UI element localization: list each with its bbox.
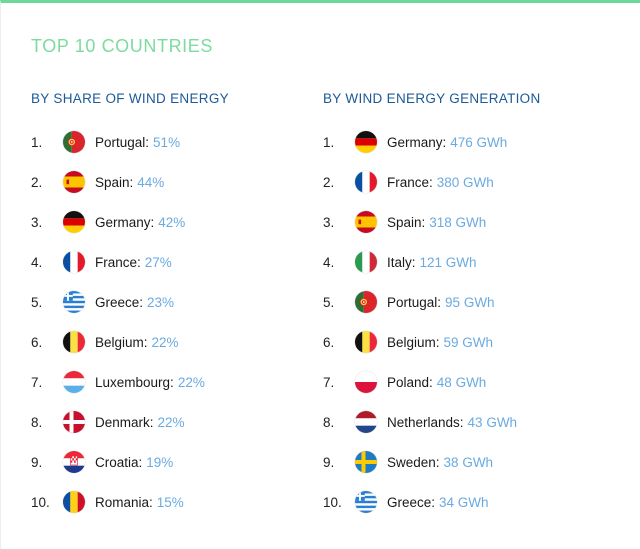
flag-romania-icon: [63, 491, 85, 513]
country-name: Italy:: [387, 255, 416, 270]
country-name: Belgium:: [95, 335, 148, 350]
country-name: Romania:: [95, 495, 153, 510]
list-item[interactable]: 6.Belgium:22%: [31, 322, 297, 362]
rank-number: 4.: [323, 255, 355, 270]
country-name: Germany:: [387, 135, 446, 150]
list-item[interactable]: 8.Netherlands:43 GWh: [323, 402, 640, 442]
rank-number: 8.: [31, 415, 63, 430]
list-item[interactable]: 4.France:27%: [31, 242, 297, 282]
country-value: 19%: [146, 455, 173, 470]
country-value: 121 GWh: [420, 255, 477, 270]
country-name: Croatia:: [95, 455, 142, 470]
column-wind-energy-generation: BY WIND ENERGY GENERATION 1.Germany:476 …: [297, 91, 640, 522]
country-name: Poland:: [387, 375, 433, 390]
list-item[interactable]: 9.Sweden:38 GWh: [323, 442, 640, 482]
top-countries-card: TOP 10 COUNTRIES BY SHARE OF WIND ENERGY…: [0, 0, 640, 549]
rank-number: 2.: [323, 175, 355, 190]
country-value: 44%: [137, 175, 164, 190]
rank-number: 5.: [31, 295, 63, 310]
column-share-of-wind-energy: BY SHARE OF WIND ENERGY 1.Portugal:51%2.…: [1, 91, 297, 522]
list-item[interactable]: 10.Greece:34 GWh: [323, 482, 640, 522]
list-item[interactable]: 5.Portugal:95 GWh: [323, 282, 640, 322]
list-item[interactable]: 2.Spain:44%: [31, 162, 297, 202]
rank-number: 8.: [323, 415, 355, 430]
flag-france-icon: [63, 251, 85, 273]
rank-number: 3.: [323, 215, 355, 230]
country-value: 22%: [158, 415, 185, 430]
flag-belgium-icon: [355, 331, 377, 353]
rank-number: 9.: [323, 455, 355, 470]
list-item[interactable]: 2.France:380 GWh: [323, 162, 640, 202]
flag-germany-icon: [63, 211, 85, 233]
country-name: France:: [95, 255, 141, 270]
country-name: Germany:: [95, 215, 154, 230]
flag-denmark-icon: [63, 411, 85, 433]
list-item[interactable]: 7.Poland:48 GWh: [323, 362, 640, 402]
rank-number: 9.: [31, 455, 63, 470]
rank-number: 3.: [31, 215, 63, 230]
list-item[interactable]: 7.Luxembourg:22%: [31, 362, 297, 402]
country-name: Greece:: [95, 295, 143, 310]
rank-list-generation: 1.Germany:476 GWh2.France:380 GWh3.Spain…: [323, 122, 640, 522]
flag-france-icon: [355, 171, 377, 193]
rank-list-share: 1.Portugal:51%2.Spain:44%3.Germany:42%4.…: [31, 122, 297, 522]
flag-luxembourg-icon: [63, 371, 85, 393]
flag-sweden-icon: [355, 451, 377, 473]
country-value: 22%: [152, 335, 179, 350]
country-name: Sweden:: [387, 455, 440, 470]
columns-container: BY SHARE OF WIND ENERGY 1.Portugal:51%2.…: [1, 91, 640, 522]
rank-number: 10.: [323, 495, 355, 510]
country-value: 15%: [157, 495, 184, 510]
flag-greece-icon: [63, 291, 85, 313]
rank-number: 7.: [323, 375, 355, 390]
column-heading-share: BY SHARE OF WIND ENERGY: [31, 91, 297, 106]
country-value: 38 GWh: [444, 455, 494, 470]
country-name: Portugal:: [95, 135, 149, 150]
country-name: Netherlands:: [387, 415, 464, 430]
column-heading-generation: BY WIND ENERGY GENERATION: [323, 91, 640, 106]
rank-number: 2.: [31, 175, 63, 190]
list-item[interactable]: 8.Denmark:22%: [31, 402, 297, 442]
country-value: 380 GWh: [437, 175, 494, 190]
country-value: 476 GWh: [450, 135, 507, 150]
country-value: 23%: [147, 295, 174, 310]
flag-greece-icon: [355, 491, 377, 513]
country-name: Greece:: [387, 495, 435, 510]
list-item[interactable]: 3.Germany:42%: [31, 202, 297, 242]
country-value: 48 GWh: [437, 375, 487, 390]
list-item[interactable]: 5.Greece:23%: [31, 282, 297, 322]
country-name: France:: [387, 175, 433, 190]
country-name: Denmark:: [95, 415, 154, 430]
list-item[interactable]: 1.Germany:476 GWh: [323, 122, 640, 162]
country-name: Spain:: [387, 215, 425, 230]
country-name: Spain:: [95, 175, 133, 190]
country-value: 43 GWh: [468, 415, 518, 430]
rank-number: 6.: [323, 335, 355, 350]
flag-croatia-icon: [63, 451, 85, 473]
flag-germany-icon: [355, 131, 377, 153]
country-name: Portugal:: [387, 295, 441, 310]
page-title: TOP 10 COUNTRIES: [31, 36, 213, 57]
flag-belgium-icon: [63, 331, 85, 353]
flag-portugal-icon: [355, 291, 377, 313]
rank-number: 6.: [31, 335, 63, 350]
country-value: 27%: [145, 255, 172, 270]
flag-poland-icon: [355, 371, 377, 393]
rank-number: 5.: [323, 295, 355, 310]
list-item[interactable]: 4.Italy:121 GWh: [323, 242, 640, 282]
list-item[interactable]: 6.Belgium:59 GWh: [323, 322, 640, 362]
country-value: 34 GWh: [439, 495, 489, 510]
rank-number: 1.: [31, 135, 63, 150]
rank-number: 10.: [31, 495, 63, 510]
list-item[interactable]: 1.Portugal:51%: [31, 122, 297, 162]
country-value: 59 GWh: [444, 335, 494, 350]
country-value: 22%: [178, 375, 205, 390]
rank-number: 4.: [31, 255, 63, 270]
country-value: 95 GWh: [445, 295, 495, 310]
country-value: 318 GWh: [429, 215, 486, 230]
list-item[interactable]: 10.Romania:15%: [31, 482, 297, 522]
country-name: Belgium:: [387, 335, 440, 350]
country-name: Luxembourg:: [95, 375, 174, 390]
list-item[interactable]: 9.Croatia:19%: [31, 442, 297, 482]
rank-number: 1.: [323, 135, 355, 150]
rank-number: 7.: [31, 375, 63, 390]
country-value: 42%: [158, 215, 185, 230]
flag-spain-icon: [63, 171, 85, 193]
country-value: 51%: [153, 135, 180, 150]
list-item[interactable]: 3.Spain:318 GWh: [323, 202, 640, 242]
flag-portugal-icon: [63, 131, 85, 153]
flag-spain-icon: [355, 211, 377, 233]
flag-netherlands-icon: [355, 411, 377, 433]
flag-italy-icon: [355, 251, 377, 273]
